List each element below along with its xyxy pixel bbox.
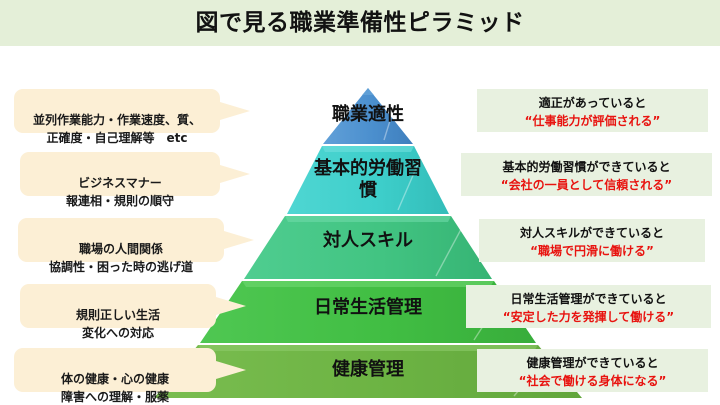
callout-right-health: 健康管理ができていると “社会で働ける身体になる”: [477, 349, 708, 392]
callout-left-daily-life: 規則正しい生活 変化への対応: [20, 284, 216, 328]
callout-left-aptitude: 並列作業能力・作業速度、質、 正確度・自己理解等 etc: [14, 89, 220, 133]
callout-right-work-habits: 基本的労働習慣ができていると “会社の一員として信頼される”: [461, 153, 712, 196]
callout-right-work-habits-outcome: “会社の一員として信頼される”: [467, 176, 706, 194]
callout-right-daily-life-outcome: “安定した力を発揮して働ける”: [472, 308, 705, 326]
callout-right-interpersonal-condition: 対人スキルができていると: [485, 224, 699, 242]
callout-left-health-text: 体の健康・心の健康 障害への理解・服薬: [61, 372, 169, 403]
pyramid-tier-1-label: 職業適性: [288, 104, 448, 126]
callout-left-interpersonal-text: 職場の人間関係 協調性・困った時の逃げ道: [49, 242, 193, 273]
callout-left-aptitude-text: 並列作業能力・作業速度、質、 正確度・自己理解等 etc: [33, 113, 201, 144]
callout-left-work-habits-text: ビジネスマナー 報連相・規則の順守: [66, 176, 174, 207]
slide-canvas: 図で見る職業準備性ピラミッド: [0, 0, 720, 405]
callout-tail-icon: [216, 361, 246, 379]
callout-right-health-outcome: “社会で働ける身体になる”: [483, 372, 702, 390]
callout-left-interpersonal: 職場の人間関係 協調性・困った時の逃げ道: [18, 218, 224, 262]
callout-right-health-condition: 健康管理ができていると: [483, 354, 702, 372]
pyramid-tier-4-label: 日常生活管理: [288, 297, 448, 319]
callout-left-daily-life-text: 規則正しい生活 変化への対応: [76, 308, 160, 339]
callout-tail-icon: [216, 297, 246, 315]
callout-right-work-habits-condition: 基本的労働習慣ができていると: [467, 158, 706, 176]
callout-left-work-habits: ビジネスマナー 報連相・規則の順守: [20, 152, 220, 196]
callout-right-interpersonal: 対人スキルができていると “職場で円滑に働ける”: [479, 219, 705, 262]
callout-right-aptitude: 適正があっていると “仕事能力が評価される”: [477, 89, 708, 132]
callout-right-daily-life: 日常生活管理ができていると “安定した力を発揮して働ける”: [466, 285, 711, 328]
pyramid-tier-2-label: 基本的労働習 慣: [300, 158, 436, 202]
callout-left-health: 体の健康・心の健康 障害への理解・服薬: [14, 348, 216, 392]
callout-tail-icon: [224, 231, 254, 249]
callout-tail-icon: [220, 165, 250, 183]
callout-right-interpersonal-outcome: “職場で円滑に働ける”: [485, 242, 699, 260]
callout-right-aptitude-outcome: “仕事能力が評価される”: [483, 112, 702, 130]
callout-tail-icon: [220, 102, 250, 120]
callout-right-aptitude-condition: 適正があっていると: [483, 94, 702, 112]
pyramid-tier-5-label: 健康管理: [288, 359, 448, 381]
pyramid-tier-3-label: 対人スキル: [288, 230, 448, 252]
callout-right-daily-life-condition: 日常生活管理ができていると: [472, 290, 705, 308]
